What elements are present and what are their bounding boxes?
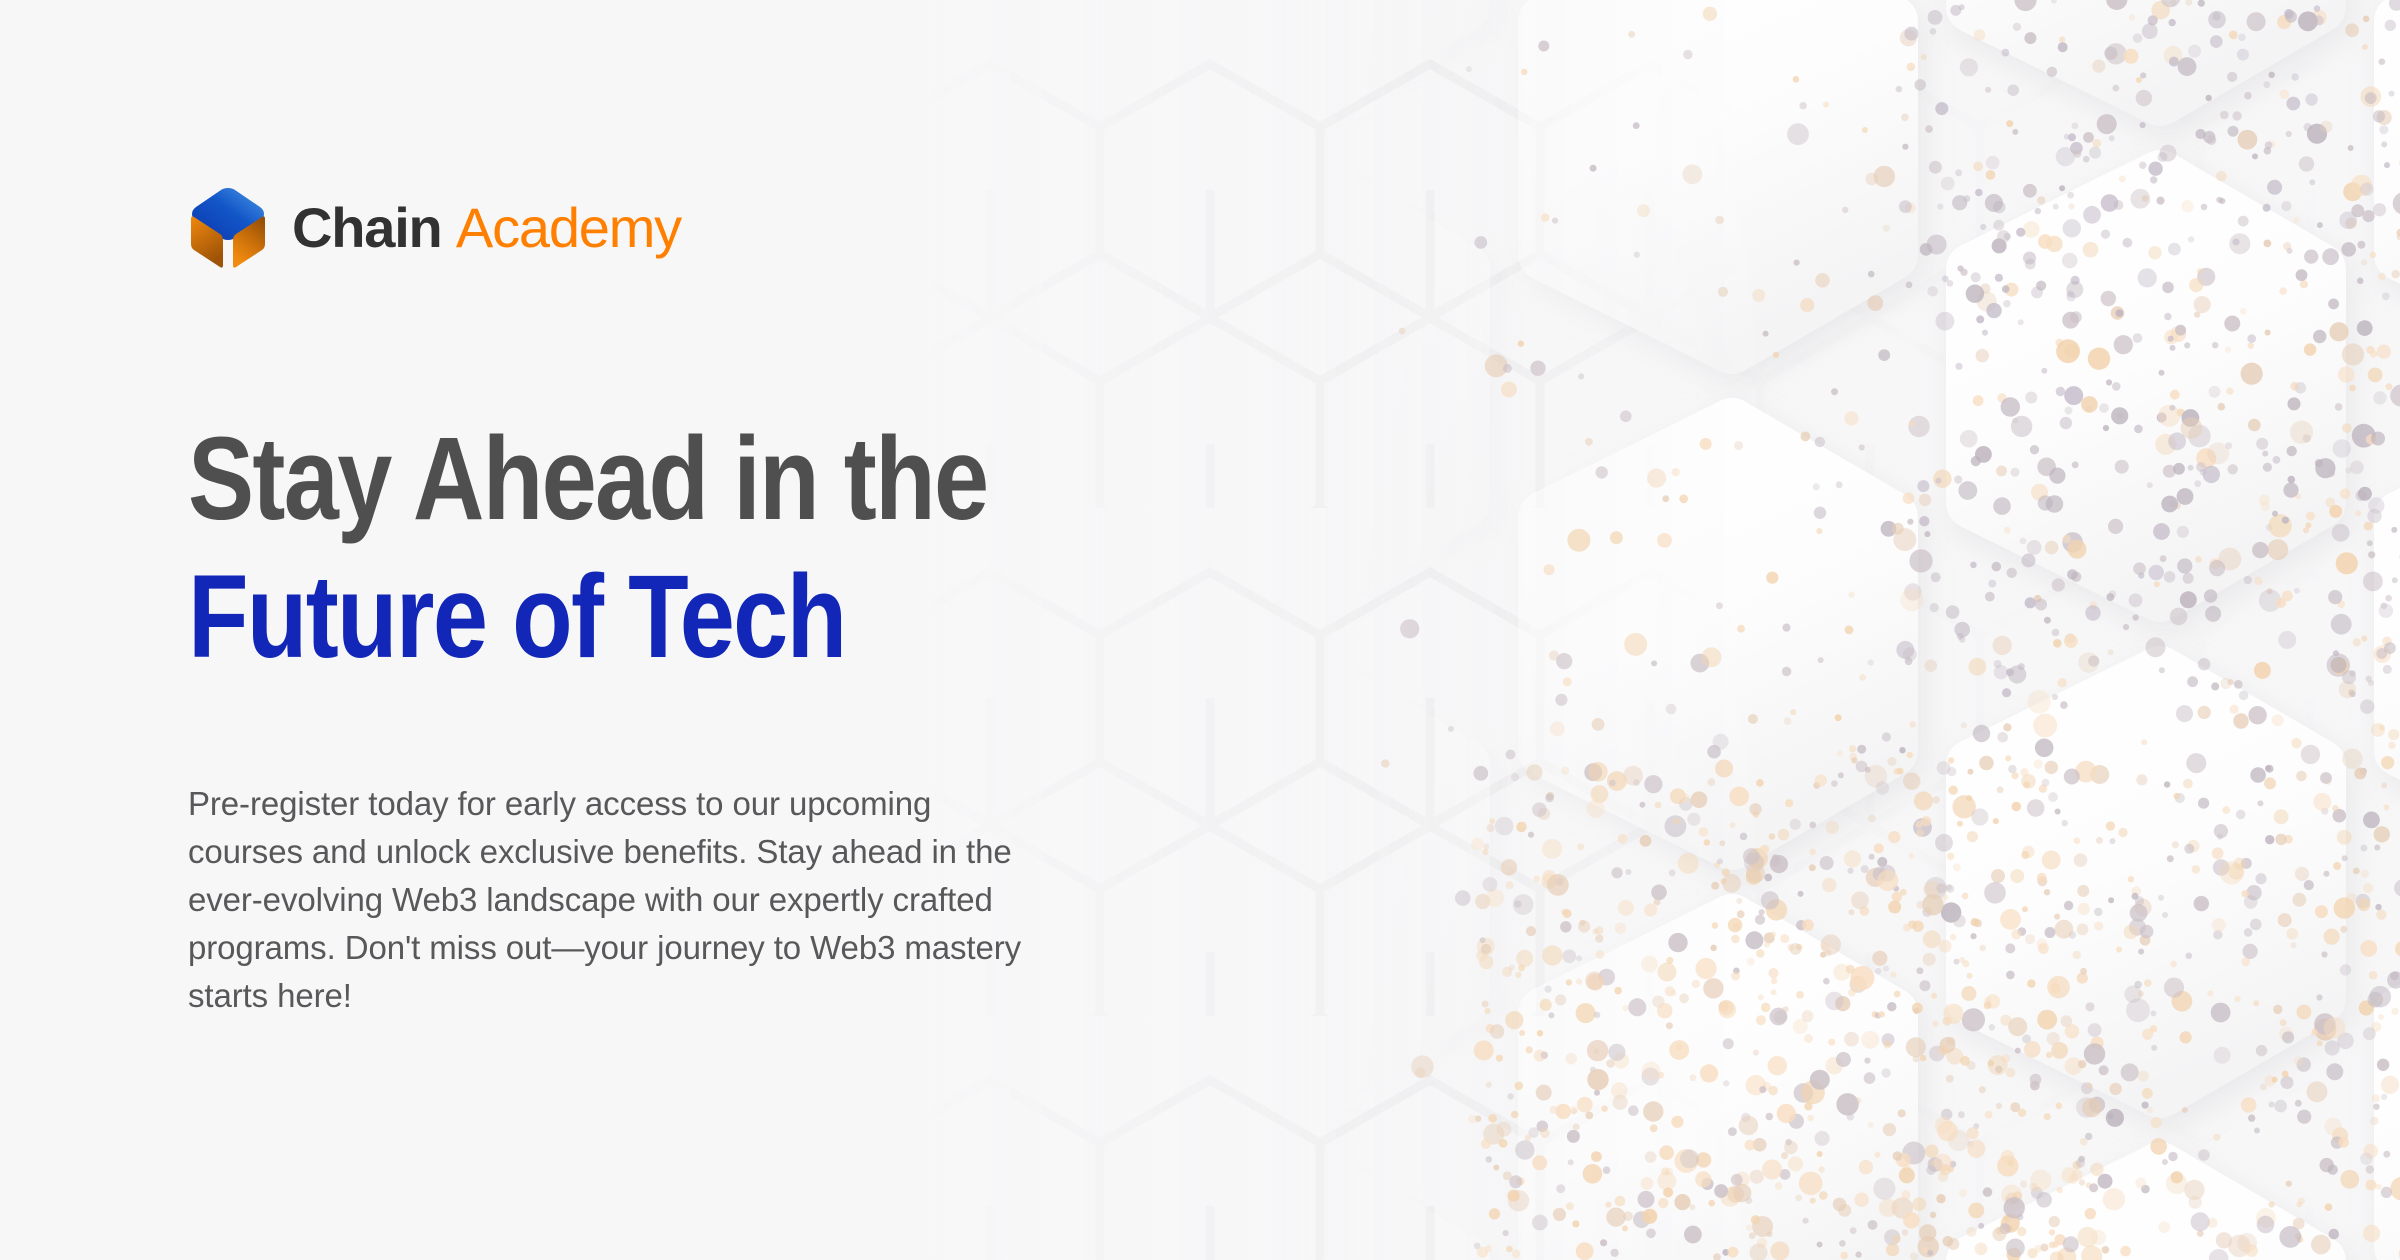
brand-name-secondary: Academy xyxy=(456,196,681,259)
hero-description: Pre-register today for early access to o… xyxy=(188,780,1288,1020)
brand-logo[interactable]: Chain Academy xyxy=(188,186,681,270)
page-title: Stay Ahead in the Future of Tech xyxy=(188,420,987,676)
brand-wordmark: Chain Academy xyxy=(292,200,681,256)
description-line: ever-evolving Web3 landscape with our ex… xyxy=(188,876,1288,924)
cube-logo-icon xyxy=(188,186,268,270)
brand-name-primary: Chain xyxy=(292,196,442,259)
headline-line-2: Future of Tech xyxy=(188,558,987,676)
description-line: Pre-register today for early access to o… xyxy=(188,780,1288,828)
description-line: programs. Don't miss out—your journey to… xyxy=(188,924,1288,972)
description-line: courses and unlock exclusive benefits. S… xyxy=(188,828,1288,876)
description-line: starts here! xyxy=(188,972,1288,1020)
hero-banner: Chain Academy Stay Ahead in the Future o… xyxy=(0,0,2400,1260)
headline-line-1: Stay Ahead in the xyxy=(188,420,987,538)
